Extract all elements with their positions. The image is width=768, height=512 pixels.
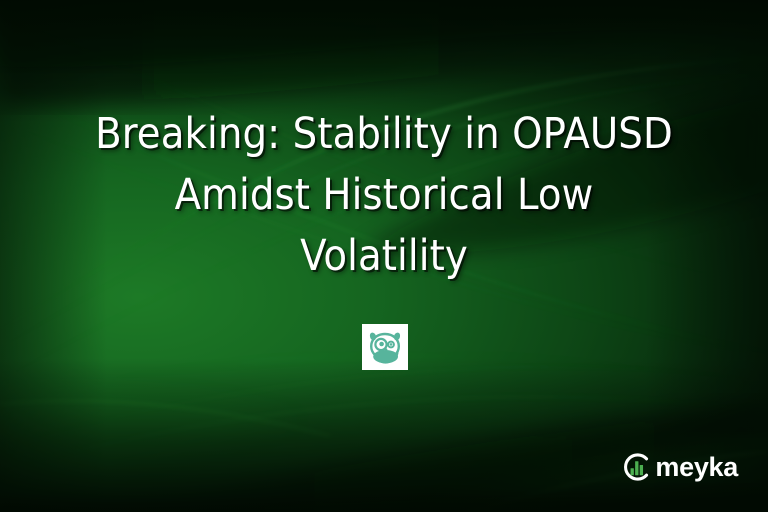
brand-name: meyka [655, 454, 738, 481]
news-card: Breaking: Stability in OPAUSD Amidst His… [0, 0, 768, 512]
headline-block: Breaking: Stability in OPAUSD Amidst His… [0, 104, 768, 287]
brand-lockup: meyka [620, 450, 738, 484]
panda-mascot-icon [365, 327, 405, 367]
center-logo [362, 324, 408, 370]
meyka-logo-icon [620, 450, 654, 484]
page-title: Breaking: Stability in OPAUSD Amidst His… [28, 104, 740, 287]
